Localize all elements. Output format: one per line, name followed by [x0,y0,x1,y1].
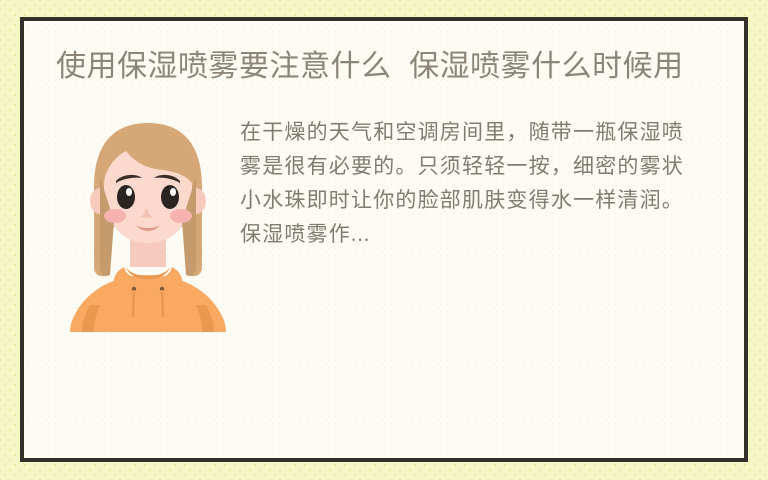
blush-right [170,209,192,223]
eye-highlight-right-icon [170,188,176,196]
woman-avatar-illustration [60,117,236,332]
drawstring-right-icon [162,290,163,317]
hoodie-hood [113,267,182,295]
avatar [56,113,240,332]
page-title: 使用保湿喷雾要注意什么 保湿喷雾什么时候用 [56,47,714,87]
eye-highlight-left-icon [126,188,132,196]
eye-left-icon [117,185,135,209]
article-frame-outer: 使用保湿喷雾要注意什么 保湿喷雾什么时候用 [20,17,748,462]
article-card: 使用保湿喷雾要注意什么 保湿喷雾什么时候用 [24,21,744,458]
drawstring-left-icon [133,290,134,317]
article-excerpt: 在干燥的天气和空调房间里，随带一瓶保湿喷雾是很有必要的。只须轻轻一按，细密的雾状… [240,113,714,251]
blush-left [104,209,126,223]
article-body-row: 在干燥的天气和空调房间里，随带一瓶保湿喷雾是很有必要的。只须轻轻一按，细密的雾状… [56,113,714,332]
eye-right-icon [161,185,179,209]
